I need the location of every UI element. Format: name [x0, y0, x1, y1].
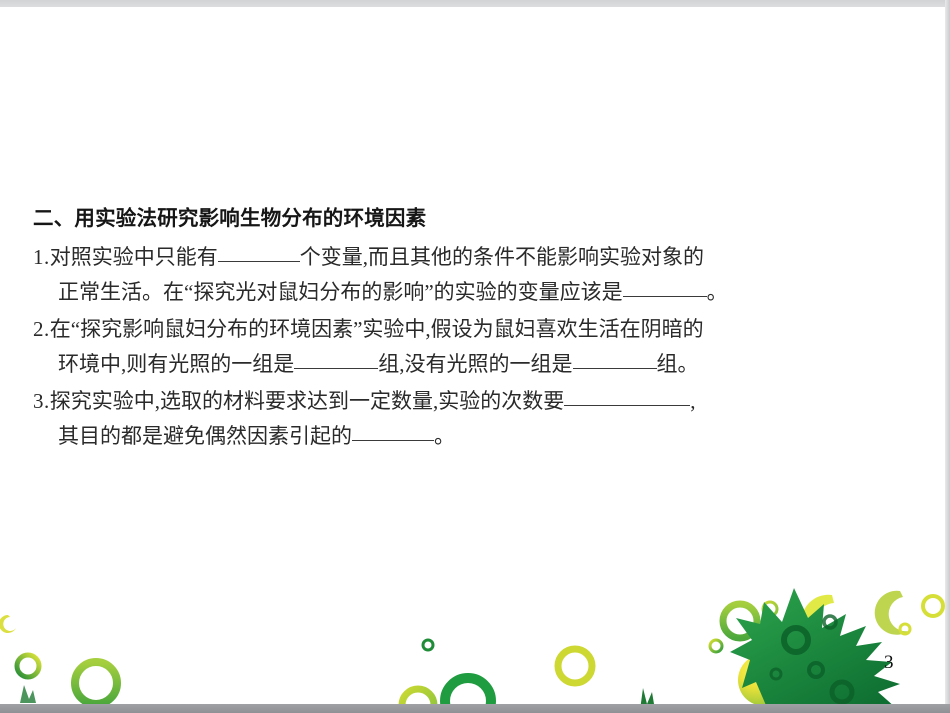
item-1-line-2: 正常生活。在“探究光对鼠妇分布的影响”的实验的变量应该是。: [33, 275, 923, 310]
item-3-blank-1[interactable]: [564, 388, 690, 406]
item-3-text-b: ,: [690, 389, 695, 413]
item-1-text-b: 个变量,而且其他的条件不能影响实验对象的: [300, 245, 704, 269]
slide-body: 二、用实验法研究影响生物分布的环境因素 1.对照实验中只能有个变量,而且其他的条…: [33, 205, 923, 456]
item-1-number: 1.: [33, 245, 50, 269]
top-edge-strip: [0, 0, 950, 7]
question-item-3: 3.探究实验中,选取的材料要求达到一定数量,实验的次数要, 其目的都是避免偶然因…: [33, 384, 923, 454]
item-2-text-c: 组,没有光照的一组是: [378, 352, 572, 376]
question-item-1: 1.对照实验中只能有个变量,而且其他的条件不能影响实验对象的 正常生活。在“探究…: [33, 240, 923, 310]
slide-canvas: 二、用实验法研究影响生物分布的环境因素 1.对照实验中只能有个变量,而且其他的条…: [0, 0, 950, 713]
page-number: 3: [884, 652, 894, 674]
item-2-blank-1[interactable]: [294, 351, 378, 369]
item-3-line-2: 其目的都是避免偶然因素引起的。: [33, 419, 923, 454]
item-2-text-b: 环境中,则有光照的一组是: [58, 352, 294, 376]
item-1-text-c: 正常生活。在“探究光对鼠妇分布的影响”的实验的变量应该是: [58, 280, 623, 304]
item-1-text-a: 对照实验中只能有: [50, 245, 218, 269]
item-2-line-2: 环境中,则有光照的一组是组,没有光照的一组是组。: [33, 347, 923, 382]
item-3-text-c: 其目的都是避免偶然因素引起的: [58, 424, 352, 448]
item-3-text-d: 。: [434, 424, 455, 448]
maple-leaf-icon: [690, 578, 950, 713]
item-2-blank-2[interactable]: [573, 351, 657, 369]
item-1-blank-1[interactable]: [218, 244, 300, 262]
item-2-text-d: 组。: [657, 352, 699, 376]
item-2-text-a: 在“探究影响鼠妇分布的环境因素”实验中,假设为鼠妇喜欢生活在阴暗的: [50, 317, 704, 341]
item-1-text-d: 。: [707, 280, 728, 304]
item-3-blank-2[interactable]: [352, 423, 434, 441]
section-heading: 二、用实验法研究影响生物分布的环境因素: [33, 205, 923, 231]
item-3-number: 3.: [33, 389, 50, 413]
item-3-text-a: 探究实验中,选取的材料要求达到一定数量,实验的次数要: [50, 389, 565, 413]
item-1-blank-2[interactable]: [623, 279, 707, 297]
bottom-edge-strip: [0, 704, 950, 713]
item-2-number: 2.: [33, 317, 50, 341]
question-item-2: 2.在“探究影响鼠妇分布的环境因素”实验中,假设为鼠妇喜欢生活在阴暗的 环境中,…: [33, 312, 923, 382]
